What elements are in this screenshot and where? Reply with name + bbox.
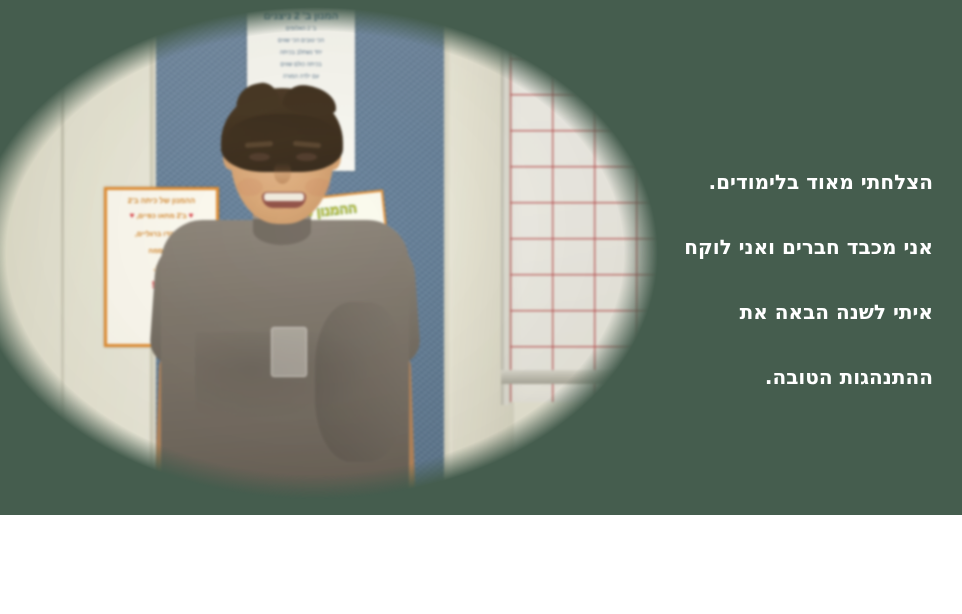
caption-line-3: איתי לשנה הבאה את: [513, 280, 933, 345]
right-eye: [296, 153, 317, 161]
caption-line-1: הצלחתי מאוד בלימודים.: [513, 150, 933, 215]
caption-line-2: אני מכבד חברים ואני לוקח: [513, 215, 933, 280]
nose: [274, 162, 291, 184]
smiling-mouth: [262, 192, 306, 208]
slide-canvas: המנון ב' 2 ניצנים ב' 2 האלופים הכי טובים…: [0, 0, 962, 614]
left-cheek: [237, 178, 263, 196]
caption-line-4: ההתנהגות הטובה.: [513, 345, 933, 410]
shirt-side-shadow: [315, 302, 405, 462]
shirt-chest-print: [271, 327, 307, 377]
teeth: [264, 193, 304, 201]
bottom-white-strip: [0, 515, 962, 614]
right-cheek: [305, 178, 331, 196]
caption-block: הצלחתי מאוד בלימודים. אני מכבד חברים ואנ…: [513, 150, 933, 410]
left-eye: [249, 153, 270, 161]
